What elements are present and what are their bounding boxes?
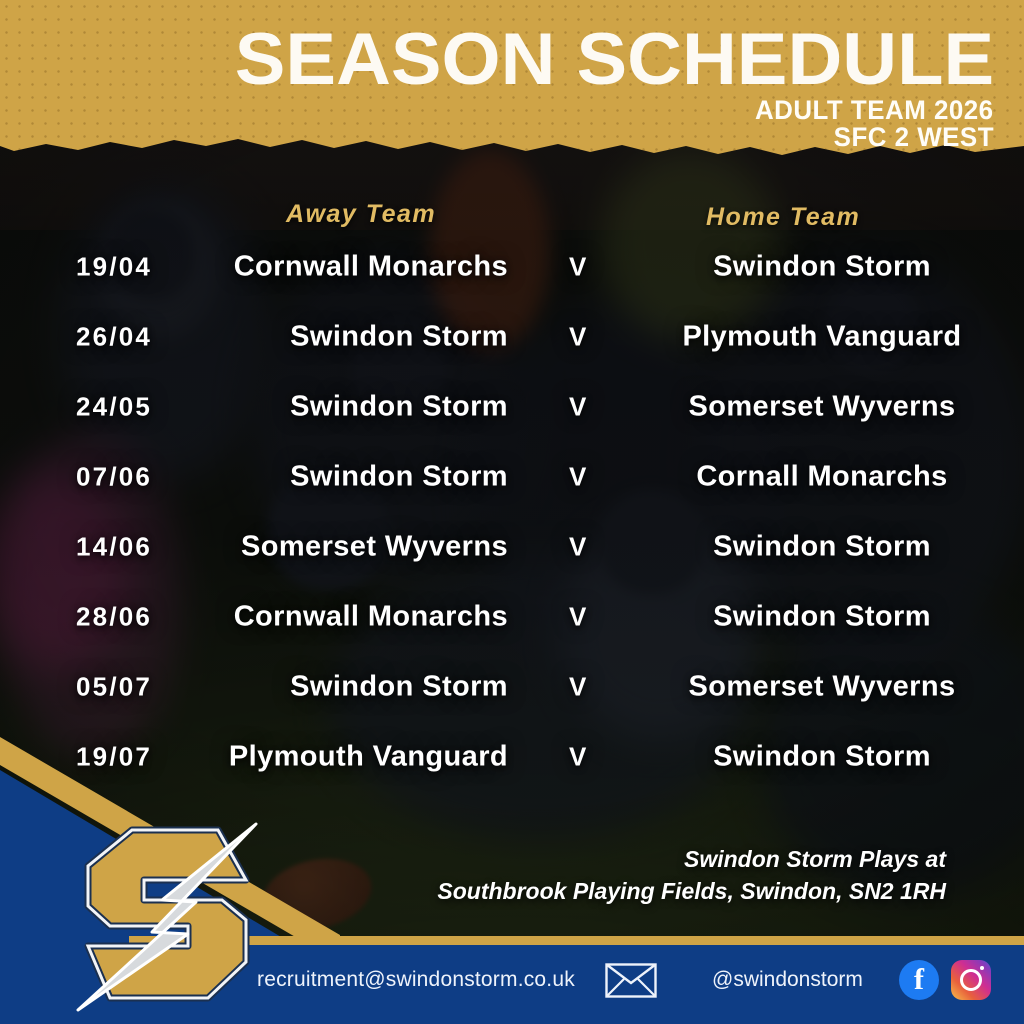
season-schedule-poster: SEASON SCHEDULE ADULT TEAM 2026 SFC 2 WE… [0,0,1024,1024]
column-header-home: Home Team [706,203,860,232]
fixture-home-team: Swindon Storm [622,741,1022,774]
fixture-vs-label: V [569,602,586,633]
fixture-date: 19/07 [76,742,152,773]
fixture-row: 26/04 Swindon Storm V Plymouth Vanguard [0,302,1024,372]
schedule-list: 19/04 Cornwall Monarchs V Swindon Storm … [0,232,1024,792]
venue-note: Swindon Storm Plays at Southbrook Playin… [437,843,946,908]
footer-gold-stripe [129,936,1024,945]
fixture-date: 07/06 [76,462,152,493]
fixture-away-team: Swindon Storm [290,461,508,494]
fixture-row: 19/07 Plymouth Vanguard V Swindon Storm [0,722,1024,792]
fixture-vs-label: V [569,742,586,773]
facebook-icon[interactable]: f [899,960,939,1000]
envelope-icon[interactable] [605,963,657,998]
fixture-away-team: Swindon Storm [290,321,508,354]
fixture-home-team: Somerset Wyverns [622,671,1022,704]
fixture-date: 28/06 [76,602,152,633]
social-handle[interactable]: @swindonstorm [712,968,863,992]
fixture-row: 14/06 Somerset Wyverns V Swindon Storm [0,512,1024,582]
venue-line-1: Swindon Storm Plays at [437,843,946,876]
fixture-date: 26/04 [76,322,152,353]
fixture-home-team: Swindon Storm [622,251,1022,284]
fixture-away-team: Cornwall Monarchs [234,251,508,284]
fixture-row: 19/04 Cornwall Monarchs V Swindon Storm [0,232,1024,302]
venue-line-2: Southbrook Playing Fields, Swindon, SN2 … [437,875,946,908]
fixture-date: 14/06 [76,532,152,563]
header-subtitle-division: SFC 2 WEST [834,122,994,153]
fixture-home-team: Plymouth Vanguard [622,321,1022,354]
fixture-row: 05/07 Swindon Storm V Somerset Wyverns [0,652,1024,722]
team-logo [70,814,260,1014]
fixture-vs-label: V [569,672,586,703]
column-header-away: Away Team [286,200,436,229]
fixture-away-team: Swindon Storm [290,391,508,424]
instagram-icon[interactable] [951,960,991,1000]
fixture-away-team: Plymouth Vanguard [229,741,508,774]
fixture-away-team: Cornwall Monarchs [234,601,508,634]
fixture-row: 28/06 Cornwall Monarchs V Swindon Storm [0,582,1024,652]
fixture-home-team: Swindon Storm [622,601,1022,634]
fixture-vs-label: V [569,532,586,563]
fixture-away-team: Swindon Storm [290,671,508,704]
instagram-lens [960,969,982,991]
facebook-glyph: f [899,963,939,997]
fixture-vs-label: V [569,322,586,353]
fixture-away-team: Somerset Wyverns [241,531,508,564]
fixture-row: 07/06 Swindon Storm V Cornall Monarchs [0,442,1024,512]
page-title: SEASON SCHEDULE [235,18,994,101]
fixture-date: 05/07 [76,672,152,703]
fixture-home-team: Swindon Storm [622,531,1022,564]
fixture-home-team: Somerset Wyverns [622,391,1022,424]
fixture-vs-label: V [569,252,586,283]
fixture-vs-label: V [569,462,586,493]
contact-email[interactable]: recruitment@swindonstorm.co.uk [257,968,575,992]
fixture-date: 24/05 [76,392,152,423]
fixture-vs-label: V [569,392,586,423]
fixture-date: 19/04 [76,252,152,283]
instagram-dot [980,966,984,970]
fixture-row: 24/05 Swindon Storm V Somerset Wyverns [0,372,1024,442]
fixture-home-team: Cornall Monarchs [622,461,1022,494]
